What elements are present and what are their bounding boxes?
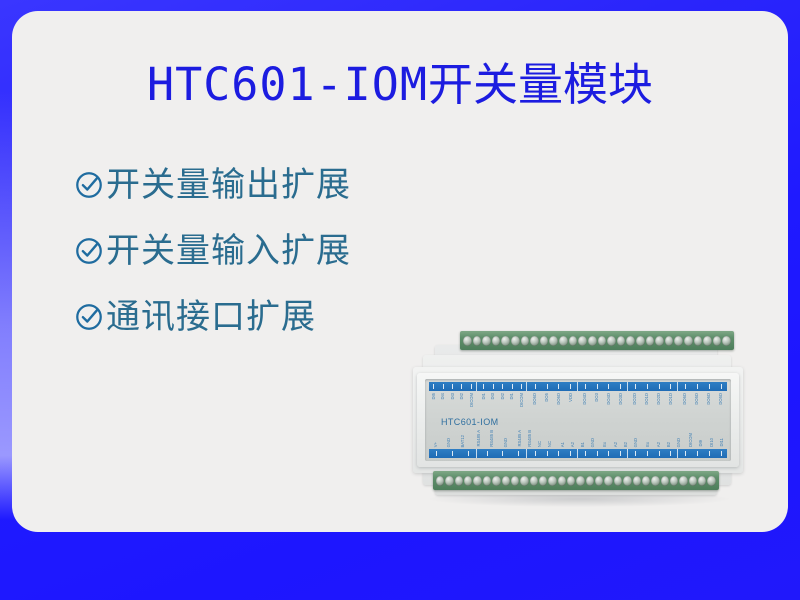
terminal-screw bbox=[661, 476, 669, 486]
terminal-label: DI11 bbox=[720, 438, 724, 447]
terminal-number-group bbox=[479, 449, 527, 458]
terminal-screw bbox=[548, 476, 556, 486]
terminal-number-tick bbox=[468, 451, 469, 456]
module-label-window: DI5DI4DI3DI2DICOMDI1DI3DI2DI1DICOMDO6DDO… bbox=[425, 379, 731, 461]
page-title: HTC601-IOM开关量模块 bbox=[12, 59, 788, 111]
terminal-screw bbox=[588, 336, 597, 346]
terminal-label: DICOM bbox=[470, 393, 474, 407]
terminal-label: GND bbox=[504, 438, 508, 447]
terminal-label: DO3D bbox=[619, 393, 623, 405]
terminal-number-tick bbox=[721, 384, 722, 389]
terminal-number-tick bbox=[502, 451, 503, 456]
terminal-number-tick bbox=[608, 451, 609, 456]
terminal-screw bbox=[492, 336, 501, 346]
terminal-number-tick bbox=[558, 451, 559, 456]
terminal-number-tick bbox=[659, 384, 660, 389]
terminal-screw bbox=[473, 336, 482, 346]
terminal-label: A2 bbox=[571, 442, 575, 447]
terminal-number-tick bbox=[721, 451, 722, 456]
terminal-label: DICOM bbox=[520, 393, 524, 407]
terminal-screw bbox=[595, 476, 603, 486]
terminal-label: RS485 A bbox=[518, 430, 522, 447]
terminal-number-tick bbox=[558, 384, 559, 389]
terminal-screw bbox=[651, 476, 659, 486]
terminal-screw bbox=[463, 336, 472, 346]
terminal-number-tick bbox=[709, 451, 710, 456]
terminal-number-group bbox=[479, 382, 527, 391]
terminal-screw bbox=[689, 476, 697, 486]
terminal-label-group: DI5DI4DI3DI2DICOM bbox=[429, 393, 477, 415]
content-card: HTC601-IOM开关量模块 开关量输出扩展 bbox=[12, 11, 788, 532]
list-item-label: 开关量输出扩展 bbox=[106, 165, 351, 205]
terminal-label: B1 bbox=[581, 442, 585, 447]
terminal-label: Ex bbox=[603, 442, 607, 447]
terminal-label: DI4 bbox=[441, 393, 445, 400]
terminal-number-tick bbox=[697, 384, 698, 389]
terminal-screw bbox=[674, 336, 683, 346]
terminal-screw bbox=[530, 476, 538, 486]
terminal-label: DI9 bbox=[699, 440, 703, 447]
terminal-screw bbox=[558, 476, 566, 486]
terminal-screw bbox=[684, 336, 693, 346]
terminal-number-group bbox=[429, 449, 477, 458]
poster-root: HTC601-IOM开关量模块 开关量输出扩展 bbox=[0, 0, 800, 600]
terminal-number-group bbox=[580, 382, 628, 391]
product-image: DI5DI4DI3DI2DICOMDI1DI3DI2DI1DICOMDO6DDO… bbox=[405, 323, 757, 523]
terminal-screw bbox=[694, 336, 703, 346]
terminal-number-tick bbox=[483, 384, 484, 389]
terminal-screw bbox=[473, 476, 481, 486]
module-front-face: DI5DI4DI3DI2DICOMDI1DI3DI2DI1DICOMDO6DDO… bbox=[417, 373, 739, 467]
terminal-screw bbox=[578, 336, 587, 346]
terminal-screw bbox=[520, 476, 528, 486]
terminal-screw bbox=[679, 476, 687, 486]
terminal-label-group: DICOMDI9DI10DI11 bbox=[686, 425, 727, 447]
terminal-number-group bbox=[630, 449, 678, 458]
terminal-screw bbox=[655, 336, 664, 346]
terminal-number-tick bbox=[620, 451, 621, 456]
terminal-screw bbox=[713, 336, 722, 346]
terminal-screw bbox=[604, 476, 612, 486]
terminal-screw bbox=[464, 476, 472, 486]
list-item: 开关量输出扩展 bbox=[74, 163, 474, 207]
terminal-number-tick bbox=[670, 451, 671, 456]
list-item: 开关量输入扩展 bbox=[74, 229, 474, 273]
terminal-label: DO6D bbox=[683, 393, 687, 405]
terminal-screw bbox=[567, 476, 575, 486]
terminal-number-tick bbox=[433, 384, 434, 389]
list-item-label: 通讯接口扩展 bbox=[106, 297, 316, 337]
terminal-number-group bbox=[680, 382, 727, 391]
terminal-screw bbox=[502, 476, 510, 486]
terminal-label: DI3 bbox=[451, 393, 455, 400]
terminal-label: A2 bbox=[657, 442, 661, 447]
terminal-label: DICOM bbox=[689, 433, 693, 447]
terminal-screw bbox=[707, 476, 715, 486]
terminal-label: DO2D bbox=[633, 393, 637, 405]
terminal-label: A2 bbox=[614, 442, 618, 447]
terminal-number-tick bbox=[597, 384, 598, 389]
terminal-label-group: DO6DDO5DDO6DDO5D bbox=[679, 393, 727, 415]
check-circle-icon bbox=[74, 236, 104, 266]
terminal-label-group: A1A2B1GND bbox=[558, 425, 599, 447]
terminal-screw bbox=[539, 476, 547, 486]
terminal-label: DI10 bbox=[710, 438, 714, 447]
terminal-number-tick bbox=[443, 384, 444, 389]
terminal-number-tick bbox=[461, 384, 462, 389]
terminal-label-group: DO6DDO5DO6DVDD bbox=[529, 393, 577, 415]
terminal-screw bbox=[722, 336, 731, 346]
terminal-screw bbox=[607, 336, 616, 346]
terminal-label: B2 bbox=[667, 442, 671, 447]
terminal-label: BAT12 bbox=[461, 435, 465, 448]
terminal-label-group: DI1DI3DI2DI1DICOM bbox=[479, 393, 527, 415]
terminal-label-row-upper: DI5DI4DI3DI2DICOMDI1DI3DI2DI1DICOMDO6DDO… bbox=[429, 393, 727, 415]
terminal-number-strip-bottom bbox=[429, 449, 727, 458]
terminal-number-tick bbox=[670, 384, 671, 389]
terminal-label: RS485 B bbox=[528, 430, 532, 447]
terminal-label: RS485 A bbox=[477, 430, 481, 447]
terminal-number-tick bbox=[518, 451, 519, 456]
terminal-label: VDD bbox=[569, 393, 573, 402]
terminal-screw bbox=[626, 336, 635, 346]
terminal-label: DO4D bbox=[607, 393, 611, 405]
terminal-number-tick bbox=[659, 451, 660, 456]
terminal-block-top bbox=[460, 331, 734, 350]
terminal-screw bbox=[586, 476, 594, 486]
terminal-screw bbox=[559, 336, 568, 346]
terminal-label: DI1 bbox=[482, 393, 486, 400]
terminal-number-tick bbox=[521, 384, 522, 389]
terminal-label: Ex bbox=[646, 442, 650, 447]
terminal-screw bbox=[511, 336, 520, 346]
terminal-label: DO1D bbox=[669, 393, 673, 405]
page-title-suffix: 开关量模块 bbox=[428, 58, 653, 111]
terminal-screw bbox=[436, 476, 444, 486]
terminal-number-tick bbox=[547, 451, 548, 456]
terminal-label: GND bbox=[447, 438, 451, 447]
terminal-screw bbox=[633, 476, 641, 486]
terminal-label: GND bbox=[677, 438, 681, 447]
terminal-screw bbox=[540, 336, 549, 346]
terminal-number-tick bbox=[452, 384, 453, 389]
terminal-number-group bbox=[580, 449, 628, 458]
terminal-screw bbox=[665, 336, 674, 346]
terminal-label: DI3 bbox=[491, 393, 495, 400]
terminal-label: V+ bbox=[434, 442, 438, 447]
terminal-number-tick bbox=[585, 384, 586, 389]
terminal-label-group: DO4DDO3DO4DDO3D bbox=[579, 393, 627, 415]
check-circle-icon bbox=[74, 302, 104, 332]
terminal-number-tick bbox=[685, 451, 686, 456]
terminal-number-tick bbox=[436, 451, 437, 456]
terminal-screw bbox=[623, 476, 631, 486]
terminal-screw bbox=[483, 476, 491, 486]
terminal-label-group: DO2DDO1DDO2DDO1D bbox=[629, 393, 677, 415]
terminal-screw bbox=[569, 336, 578, 346]
terminal-screw bbox=[482, 336, 491, 346]
terminal-screw bbox=[646, 336, 655, 346]
terminal-screw bbox=[598, 336, 607, 346]
terminal-block-bottom bbox=[433, 471, 719, 490]
page-title-model: HTC601-IOM bbox=[147, 58, 428, 111]
terminal-label-row-lower: V+GNDBAT12RS485 ARS485 BGNDRS485 ARS485 … bbox=[429, 425, 727, 447]
terminal-screw bbox=[642, 476, 650, 486]
terminal-number-group bbox=[630, 382, 678, 391]
terminal-label: DO6D bbox=[557, 393, 561, 405]
terminal-label: DO1D bbox=[645, 393, 649, 405]
terminal-label: NC bbox=[538, 441, 542, 447]
terminal-number-tick bbox=[597, 451, 598, 456]
terminal-label: DI1 bbox=[510, 393, 514, 400]
terminal-label: RS485 B bbox=[490, 430, 494, 447]
terminal-label-group: ExA2B2GND bbox=[600, 425, 641, 447]
terminal-number-tick bbox=[512, 384, 513, 389]
terminal-screw bbox=[521, 336, 530, 346]
terminal-number-group bbox=[429, 382, 477, 391]
terminal-number-tick bbox=[635, 451, 636, 456]
terminal-number-tick bbox=[570, 384, 571, 389]
terminal-screw bbox=[492, 476, 500, 486]
terminal-screw bbox=[614, 476, 622, 486]
terminal-number-tick bbox=[620, 384, 621, 389]
terminal-number-group bbox=[529, 449, 577, 458]
terminal-screw bbox=[549, 336, 558, 346]
terminal-label: GND bbox=[591, 438, 595, 447]
terminal-number-tick bbox=[685, 384, 686, 389]
terminal-label: DI5 bbox=[432, 393, 436, 400]
terminal-number-group bbox=[680, 449, 727, 458]
terminal-screw bbox=[670, 476, 678, 486]
terminal-number-tick bbox=[647, 384, 648, 389]
terminal-number-strip-top bbox=[429, 382, 727, 391]
terminal-number-tick bbox=[487, 451, 488, 456]
terminal-label: DO5 bbox=[545, 393, 549, 402]
terminal-screw bbox=[501, 336, 510, 346]
terminal-label: DO2D bbox=[657, 393, 661, 405]
list-item-label: 开关量输入扩展 bbox=[106, 231, 351, 271]
terminal-number-group bbox=[529, 382, 577, 391]
terminal-label: DO6D bbox=[533, 393, 537, 405]
terminal-label: DO5D bbox=[719, 393, 723, 405]
terminal-label: DO6D bbox=[707, 393, 711, 405]
terminal-label: A1 bbox=[561, 442, 565, 447]
terminal-label: B2 bbox=[624, 442, 628, 447]
terminal-label: DI2 bbox=[460, 393, 464, 400]
terminal-screw bbox=[530, 336, 539, 346]
terminal-label-group: RS485 ARS485 BNCNC bbox=[515, 425, 556, 447]
terminal-screw bbox=[636, 336, 645, 346]
terminal-label: DO3 bbox=[595, 393, 599, 402]
terminal-screw bbox=[455, 476, 463, 486]
terminal-label: NC bbox=[548, 441, 552, 447]
terminal-number-tick bbox=[647, 451, 648, 456]
terminal-number-tick bbox=[452, 451, 453, 456]
terminal-screw bbox=[511, 476, 519, 486]
terminal-screw bbox=[445, 476, 453, 486]
terminal-label-group: RS485 ARS485 BGND bbox=[472, 425, 513, 447]
terminal-label-group: ExA2B2GND bbox=[643, 425, 684, 447]
terminal-number-tick bbox=[635, 384, 636, 389]
terminal-screw bbox=[698, 476, 706, 486]
terminal-label: DO5D bbox=[695, 393, 699, 405]
terminal-label: DO4D bbox=[583, 393, 587, 405]
terminal-number-tick bbox=[493, 384, 494, 389]
terminal-number-tick bbox=[547, 384, 548, 389]
terminal-number-tick bbox=[709, 384, 710, 389]
terminal-number-tick bbox=[471, 384, 472, 389]
terminal-screw bbox=[617, 336, 626, 346]
check-circle-icon bbox=[74, 170, 104, 200]
terminal-number-tick bbox=[535, 451, 536, 456]
terminal-number-tick bbox=[502, 384, 503, 389]
terminal-number-tick bbox=[535, 384, 536, 389]
terminal-number-tick bbox=[570, 451, 571, 456]
terminal-label-group: V+GNDBAT12 bbox=[429, 425, 470, 447]
terminal-number-tick bbox=[585, 451, 586, 456]
terminal-label: DI2 bbox=[501, 393, 505, 400]
terminal-screw bbox=[576, 476, 584, 486]
terminal-number-tick bbox=[608, 384, 609, 389]
terminal-screw bbox=[703, 336, 712, 346]
terminal-number-tick bbox=[697, 451, 698, 456]
terminal-label: GND bbox=[634, 438, 638, 447]
